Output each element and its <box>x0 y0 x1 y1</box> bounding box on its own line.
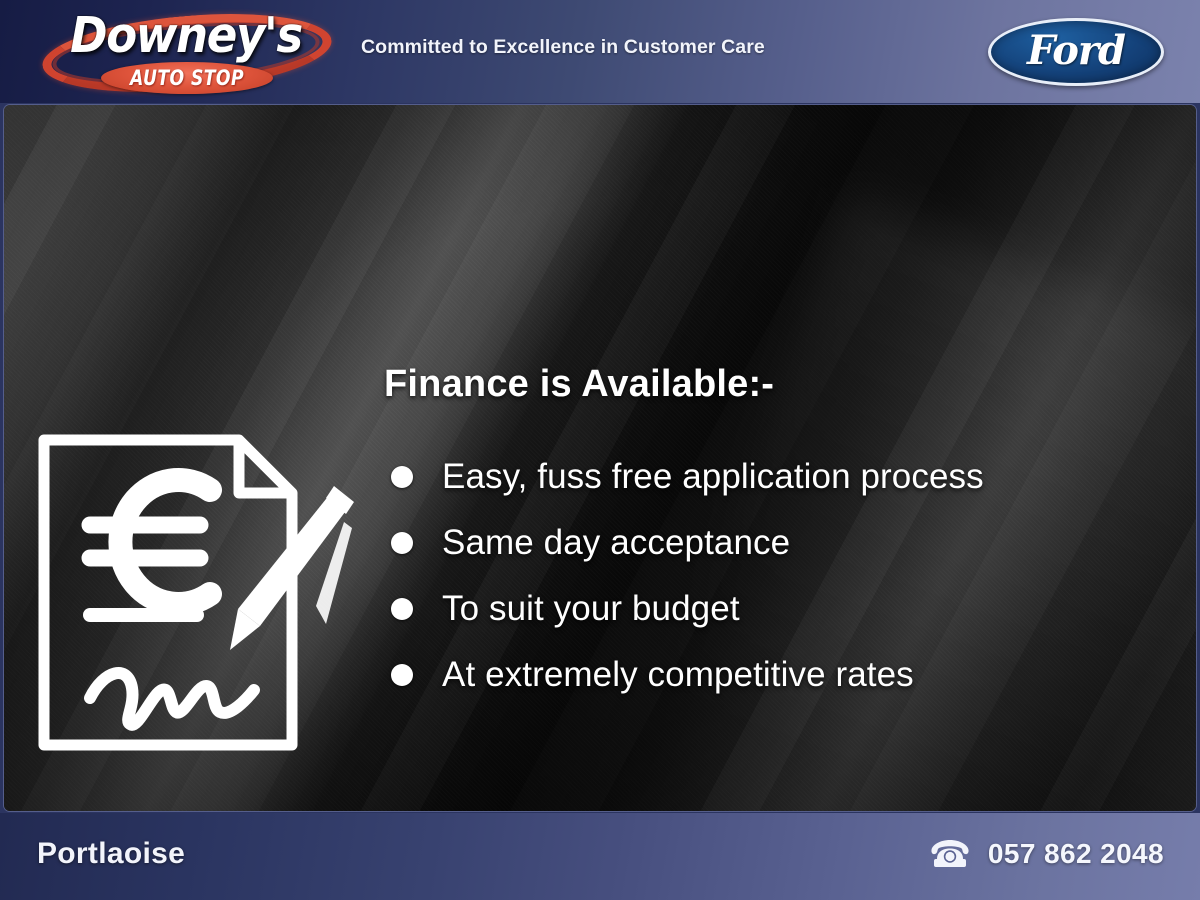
list-item: At extremely competitive rates <box>384 642 1174 708</box>
bullet-text: At extremely competitive rates <box>442 654 914 696</box>
bullet-text: To suit your budget <box>442 588 740 630</box>
phone-contact[interactable]: 057 862 2048 <box>929 838 1164 870</box>
brand-subtitle: AUTO STOP <box>116 66 257 90</box>
bullet-text: Easy, fuss free application process <box>442 456 984 498</box>
list-item: Same day acceptance <box>384 510 1174 576</box>
bullet-text: Same day acceptance <box>442 522 790 564</box>
location-label: Portlaoise <box>37 837 185 871</box>
finance-document-euro-signature-pen-icon <box>34 430 354 755</box>
list-item: To suit your budget <box>384 576 1174 642</box>
ford-wordmark: Ford <box>988 23 1164 79</box>
advert-page: Downey's AUTO STOP Committed to Excellen… <box>0 0 1200 900</box>
bullet-dot-icon <box>391 598 413 620</box>
downeys-auto-stop-logo[interactable]: Downey's AUTO STOP <box>36 4 336 100</box>
brand-name: Downey's <box>48 10 324 62</box>
header-tagline: Committed to Excellence in Customer Care <box>361 36 765 59</box>
bullet-dot-icon <box>391 532 413 554</box>
list-item: Easy, fuss free application process <box>384 444 1174 510</box>
ford-oval-logo[interactable]: Ford <box>988 18 1164 86</box>
telephone-icon <box>929 839 971 869</box>
bullet-dot-icon <box>391 466 413 488</box>
benefits-list: Easy, fuss free application process Same… <box>384 444 1174 708</box>
page-header: Downey's AUTO STOP Committed to Excellen… <box>0 0 1200 103</box>
finance-banner: Finance is Available:- Easy, fuss free a… <box>4 105 1196 811</box>
phone-number: 057 862 2048 <box>988 838 1164 870</box>
page-footer: Portlaoise 057 862 2048 <box>0 813 1200 900</box>
bullet-dot-icon <box>391 664 413 686</box>
finance-copy-block: Finance is Available:- Easy, fuss free a… <box>384 357 1174 708</box>
headline: Finance is Available:- <box>384 357 1174 411</box>
